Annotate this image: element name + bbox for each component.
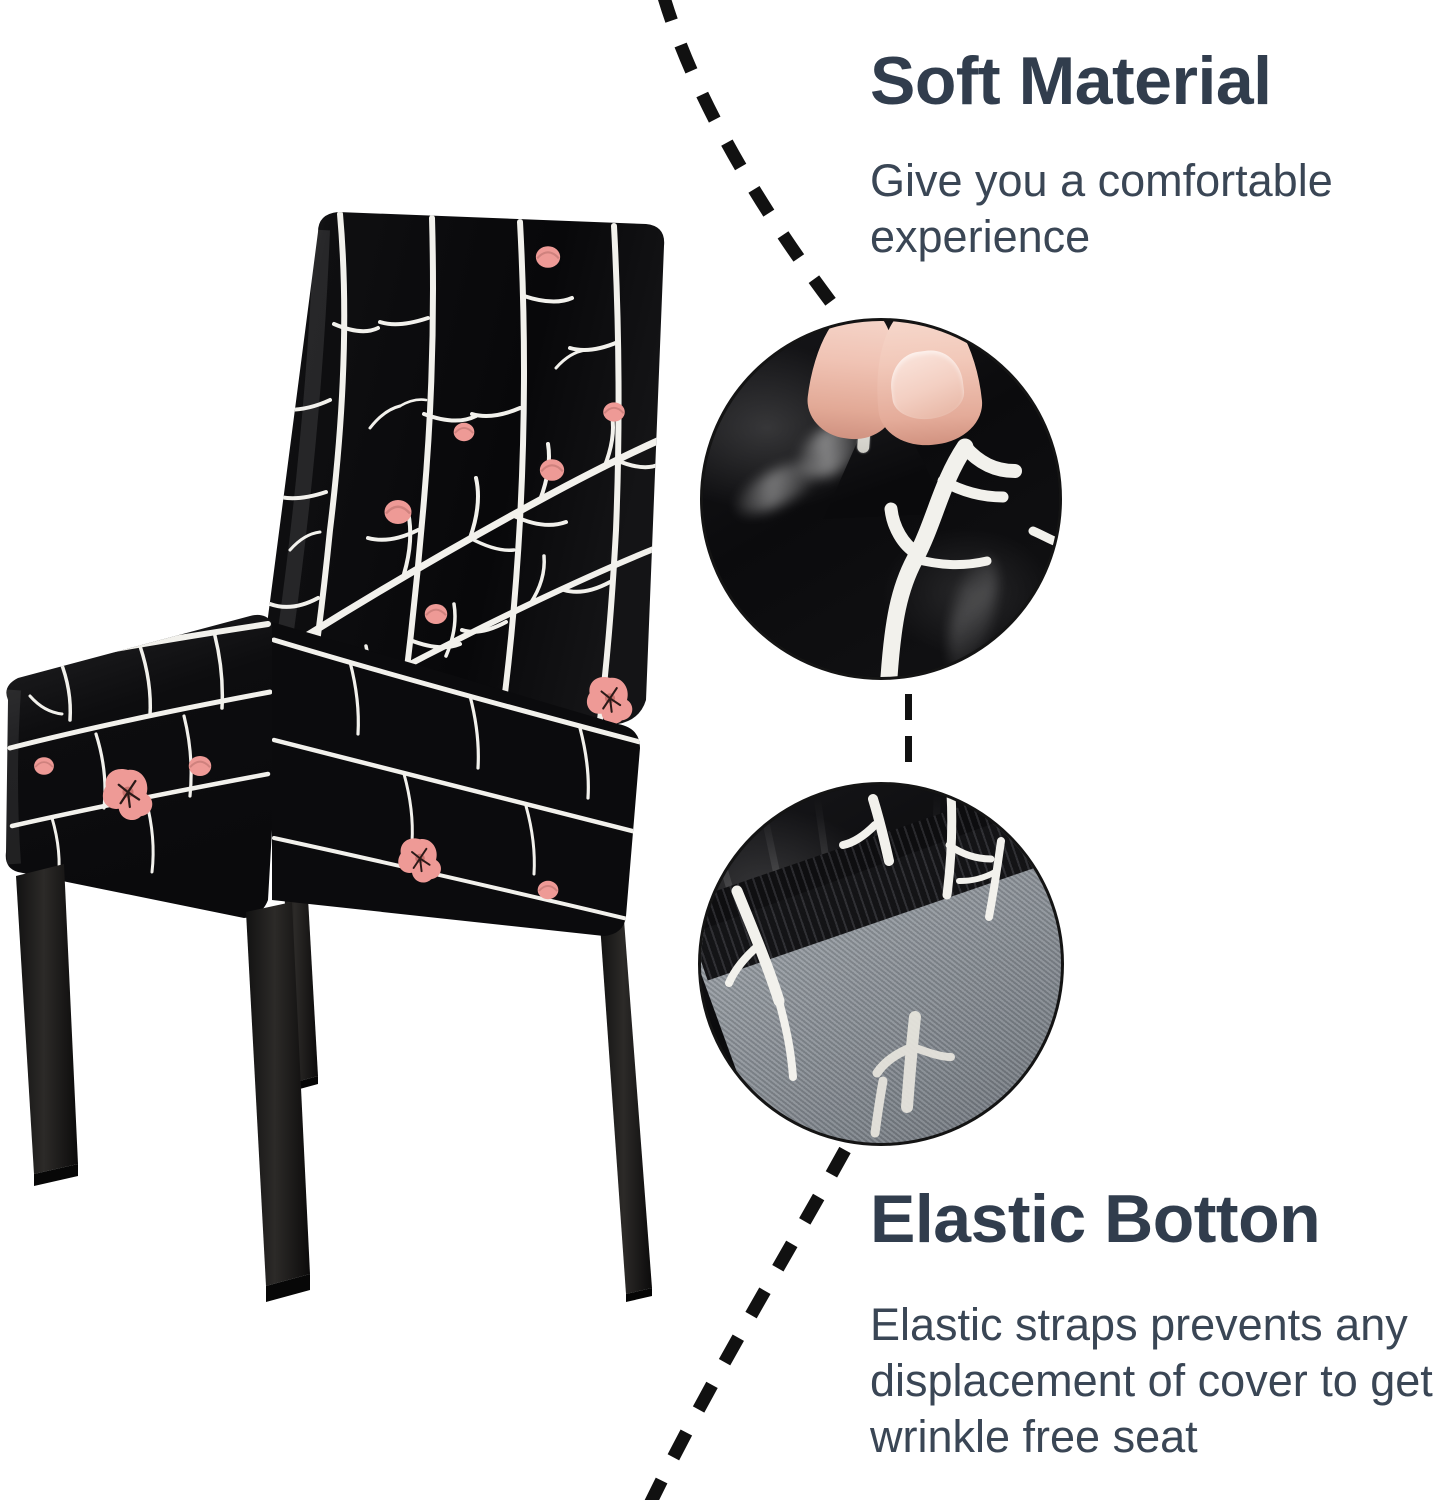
product-feature-infographic: Soft Material Give you a comfortable exp… <box>0 0 1434 1500</box>
feature-title-elastic-botton: Elastic Botton <box>870 1184 1434 1255</box>
feature-description-soft-material: Give you a comfortable experience <box>870 153 1434 266</box>
callout-elastic-hem-detail <box>698 782 1064 1146</box>
feature-title-soft-material: Soft Material <box>870 46 1434 117</box>
hem-branch-print <box>701 785 1064 1146</box>
feature-block-soft-material: Soft Material Give you a comfortable exp… <box>862 46 1434 265</box>
callout-pinch-detail <box>700 318 1062 680</box>
product-image-chair <box>0 200 700 1320</box>
callout-connector-dashes <box>905 694 912 778</box>
chair-leg-front-left <box>16 864 78 1186</box>
feature-block-elastic-botton: Elastic Botton Elastic straps prevents a… <box>862 1184 1434 1465</box>
feature-description-elastic-botton: Elastic straps prevents any displacement… <box>870 1297 1434 1466</box>
chair-leg-rear-right <box>600 920 652 1302</box>
